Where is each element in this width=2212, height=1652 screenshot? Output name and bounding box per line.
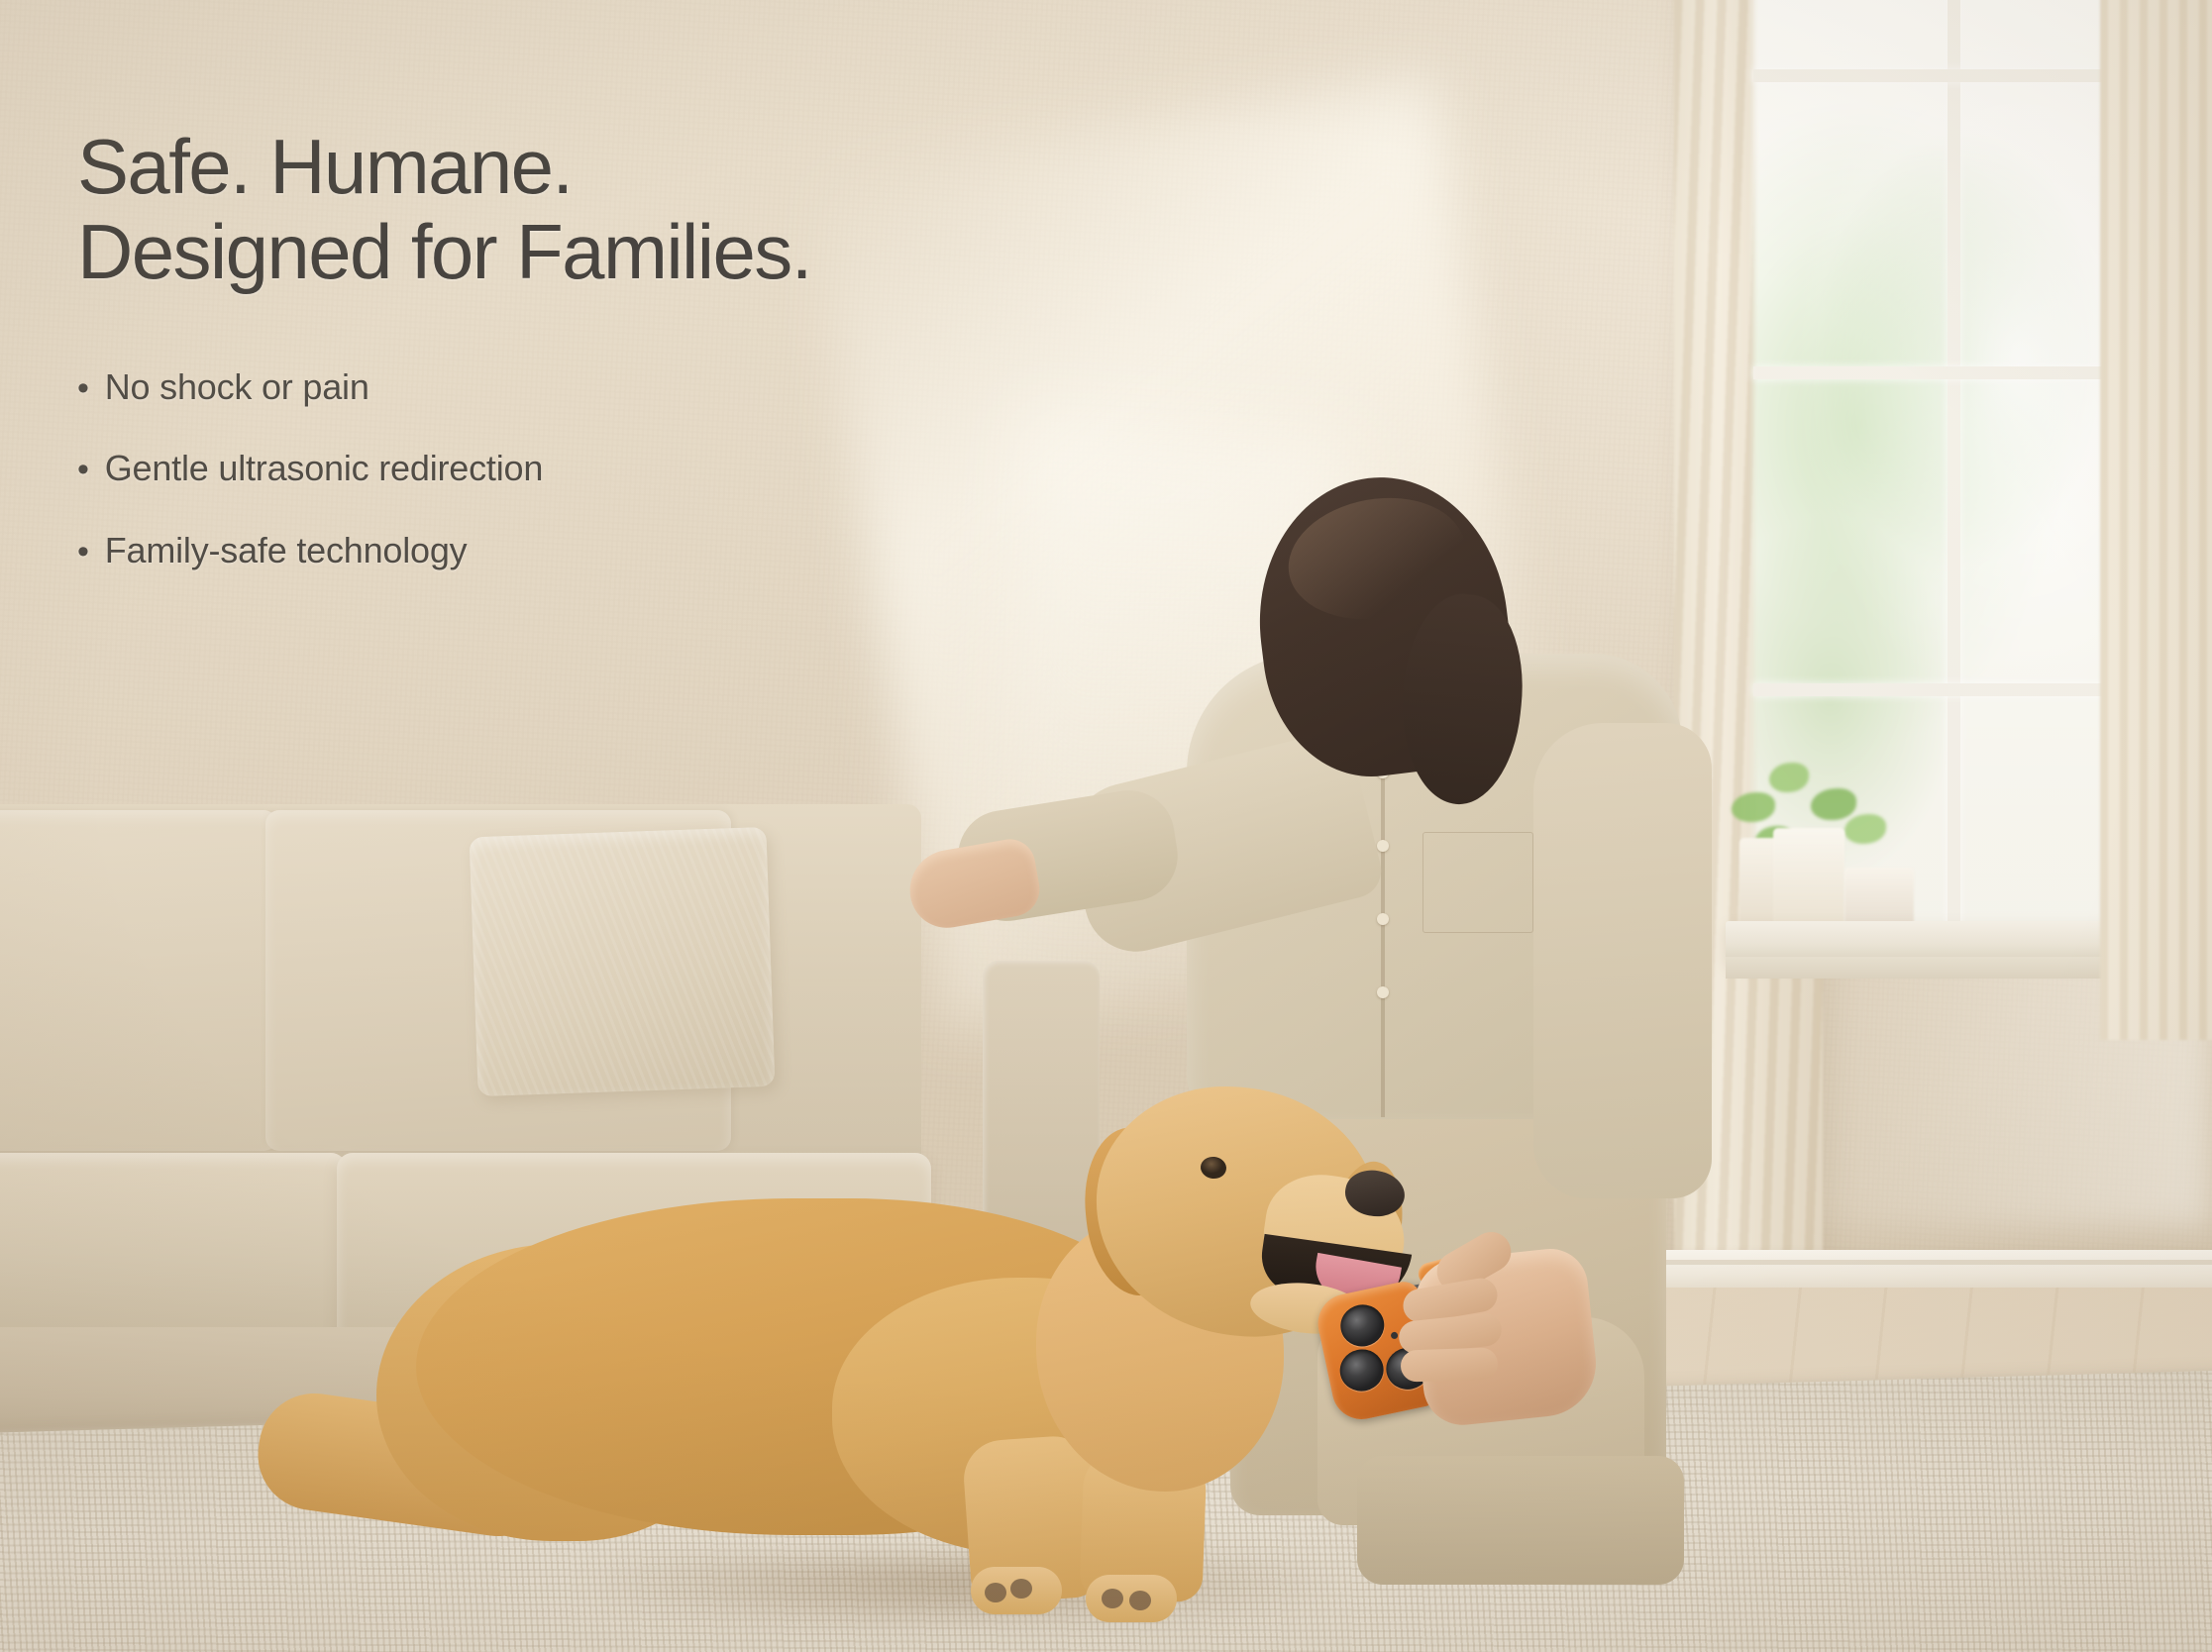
- sofa-back-cushion: [0, 810, 277, 1151]
- ultrasonic-emitter: [1336, 1345, 1388, 1394]
- bullet-marker-icon: •: [77, 453, 89, 486]
- benefit-label: Family-safe technology: [105, 530, 468, 571]
- dog-paw: [971, 1567, 1062, 1614]
- benefit-list: • No shock or pain • Gentle ultrasonic r…: [77, 366, 1147, 571]
- dog-paw: [1086, 1575, 1177, 1622]
- shirt-button: [1377, 986, 1389, 998]
- ultrasonic-emitter: [1336, 1300, 1388, 1350]
- shirt-button: [1377, 913, 1389, 925]
- list-item: • Family-safe technology: [77, 530, 1147, 571]
- list-item: • No shock or pain: [77, 366, 1147, 408]
- bullet-marker-icon: •: [77, 535, 89, 568]
- sofa-seat-cushion: [0, 1153, 347, 1347]
- finger: [1400, 1347, 1498, 1382]
- benefit-label: Gentle ultrasonic redirection: [105, 448, 543, 489]
- marketing-copy-block: Safe. Humane. Designed for Families. • N…: [77, 125, 1147, 611]
- arm-right: [1533, 723, 1712, 1198]
- device-led-indicator: [1390, 1331, 1398, 1339]
- headline: Safe. Humane. Designed for Families.: [77, 125, 1147, 295]
- sheer-curtain-right: [2100, 0, 2212, 1040]
- window-mullion-vertical: [1948, 0, 1960, 951]
- golden-retriever-dog: [416, 1050, 1417, 1652]
- benefit-label: No shock or pain: [105, 366, 369, 408]
- shirt-chest-pocket: [1422, 832, 1533, 933]
- lifestyle-photo-scene: Safe. Humane. Designed for Families. • N…: [0, 0, 2212, 1652]
- bullet-marker-icon: •: [77, 371, 89, 405]
- plant-pot-center: [1773, 828, 1844, 931]
- list-item: • Gentle ultrasonic redirection: [77, 448, 1147, 489]
- shirt-button: [1377, 840, 1389, 852]
